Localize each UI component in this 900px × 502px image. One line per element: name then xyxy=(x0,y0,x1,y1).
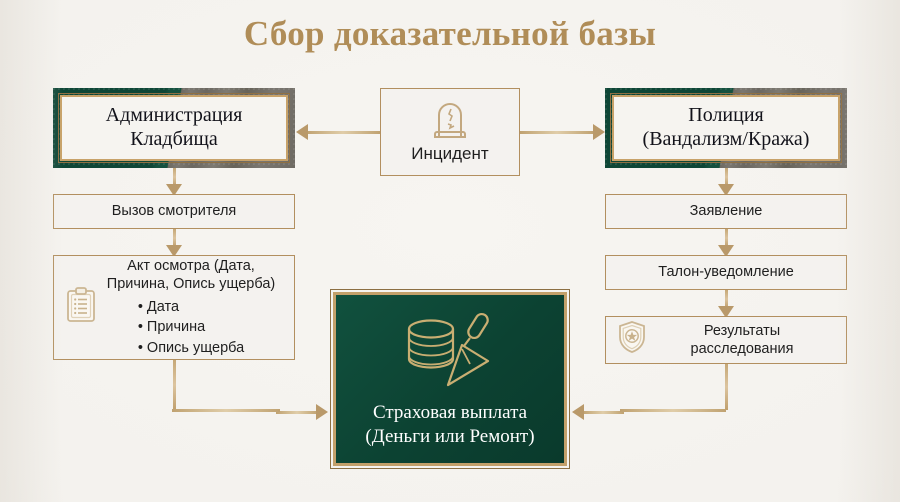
insurance-payout-line2: (Деньги или Ремонт) xyxy=(365,426,534,447)
node-cemetery-admin[interactable]: Администрация Кладбища xyxy=(53,88,295,168)
police-line2: (Вандализм/Кража) xyxy=(643,128,810,150)
connector-incident-to-police xyxy=(520,124,605,140)
node-caretaker-call[interactable]: Вызов смотрителя xyxy=(53,194,295,229)
inspection-act-title-line1: Акт осмотра (Дата, xyxy=(127,258,255,274)
node-incident-label: Инцидент xyxy=(405,143,494,164)
connector-statement-to-coupon xyxy=(718,229,734,257)
list-item: Дата xyxy=(138,297,244,318)
node-investigation-results[interactable]: Результаты расследования xyxy=(605,316,847,364)
insurance-payout-line1: Страховая выплата xyxy=(373,402,527,423)
police-badge-icon xyxy=(618,321,646,358)
node-insurance-payout-label: Страховая выплата (Деньги или Ремонт) xyxy=(365,401,534,449)
connector-caretaker-to-act xyxy=(166,229,182,257)
connector-results-down-stub xyxy=(725,364,728,410)
tombstone-icon xyxy=(431,99,469,139)
connector-admin-to-caretaker xyxy=(166,168,182,196)
page-title: Сбор доказательной базы xyxy=(0,14,900,54)
inspection-act-list: Дата Причина Опись ущерба xyxy=(138,297,244,359)
inspection-act-title-line2: Причина, Опись ущерба) xyxy=(107,276,275,292)
node-insurance-payout[interactable]: Страховая выплата (Деньги или Ремонт) xyxy=(325,284,575,474)
coins-trowel-icon xyxy=(398,309,502,391)
node-inspection-act-body: Акт осмотра (Дата, Причина, Опись ущерба… xyxy=(102,257,294,359)
node-cemetery-admin-inner: Администрация Кладбища xyxy=(60,95,288,161)
list-item: Причина xyxy=(138,317,244,338)
node-insurance-payout-inner: Страховая выплата (Деньги или Ремонт) xyxy=(333,292,567,466)
node-police-inner: Полиция (Вандализм/Кража) xyxy=(612,95,840,161)
connector-act-down-stub xyxy=(173,360,176,410)
investigation-results-line1: Результаты xyxy=(704,323,780,339)
node-statement[interactable]: Заявление xyxy=(605,194,847,229)
cemetery-admin-line1: Администрация xyxy=(106,104,243,126)
node-inspection-act[interactable]: Акт осмотра (Дата, Причина, Опись ущерба… xyxy=(53,255,295,360)
police-line1: Полиция xyxy=(688,104,763,126)
node-caretaker-call-label: Вызов смотрителя xyxy=(106,202,243,220)
investigation-results-line2: расследования xyxy=(691,341,794,357)
cemetery-admin-line2: Кладбища xyxy=(130,128,218,150)
node-notification-coupon[interactable]: Талон-уведомление xyxy=(605,255,847,290)
connector-results-across-stub xyxy=(620,409,726,412)
connector-coupon-to-results xyxy=(718,290,734,318)
slide-canvas: Сбор доказательной базы Администрация Кл… xyxy=(0,0,900,502)
node-statement-label: Заявление xyxy=(684,202,769,220)
node-police[interactable]: Полиция (Вандализм/Кража) xyxy=(605,88,847,168)
connector-police-to-statement xyxy=(718,168,734,196)
node-investigation-results-body: Результаты расследования xyxy=(652,322,846,358)
connector-incident-to-admin xyxy=(296,124,380,140)
connector-results-to-payout xyxy=(572,404,624,420)
connector-act-across-stub xyxy=(172,409,280,412)
list-item: Опись ущерба xyxy=(138,338,244,359)
clipboard-icon xyxy=(66,287,96,328)
connector-act-to-payout xyxy=(276,404,328,420)
node-notification-coupon-label: Талон-уведомление xyxy=(652,263,800,281)
node-incident[interactable]: Инцидент xyxy=(380,88,520,176)
